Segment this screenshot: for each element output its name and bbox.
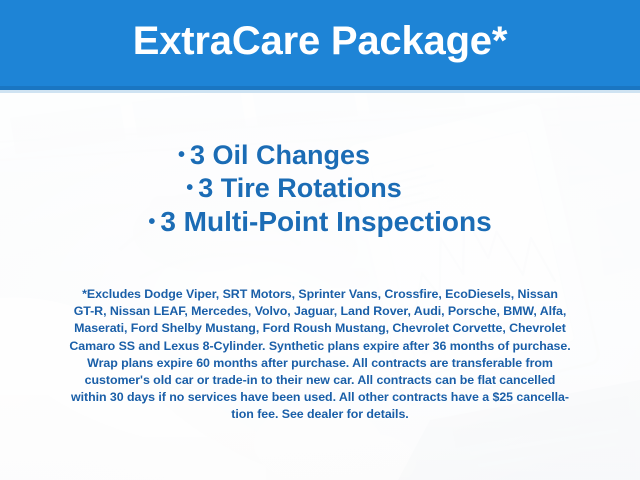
disclaimer-line: GT-R, Nissan LEAF, Mercedes, Volvo, Jagu…	[22, 303, 618, 320]
benefit-item-oil-changes-label: 3 Oil Changes	[190, 140, 370, 170]
disclaimer-line: customer's old car or trade-in to their …	[22, 372, 618, 389]
header-bar-bottom-edge	[0, 90, 640, 93]
disclaimer-line: Camaro SS and Lexus 8-Cylinder. Syntheti…	[22, 338, 618, 355]
disclaimer-line: tion fee. See dealer for details.	[22, 406, 618, 423]
disclaimer-text: *Excludes Dodge Viper, SRT Motors, Sprin…	[22, 286, 618, 424]
benefit-item-oil-changes: •3 Oil Changes	[0, 139, 640, 172]
benefit-item-tire-rotations: •3 Tire Rotations	[0, 172, 640, 205]
benefit-item-multi-point-inspections: •3 Multi-Point Inspections	[0, 205, 640, 239]
bullet-dot-icon: •	[186, 177, 198, 199]
disclaimer-line: within 30 days if no services have been …	[22, 389, 618, 406]
disclaimer-line: Wrap plans expire 60 months after purcha…	[22, 355, 618, 372]
extracare-package-promo: ExtraCare Package* •3 Oil Changes •3 Tir…	[0, 0, 640, 480]
bullet-dot-icon: •	[178, 144, 190, 166]
benefits-list: •3 Oil Changes •3 Tire Rotations •3 Mult…	[0, 139, 640, 239]
benefit-item-multi-point-inspections-label: 3 Multi-Point Inspections	[160, 206, 491, 237]
disclaimer-line: Maserati, Ford Shelby Mustang, Ford Rous…	[22, 320, 618, 337]
page-title: ExtraCare Package*	[0, 0, 640, 86]
benefit-item-tire-rotations-label: 3 Tire Rotations	[198, 173, 402, 203]
disclaimer-line: *Excludes Dodge Viper, SRT Motors, Sprin…	[22, 286, 618, 303]
bullet-dot-icon: •	[148, 211, 160, 233]
